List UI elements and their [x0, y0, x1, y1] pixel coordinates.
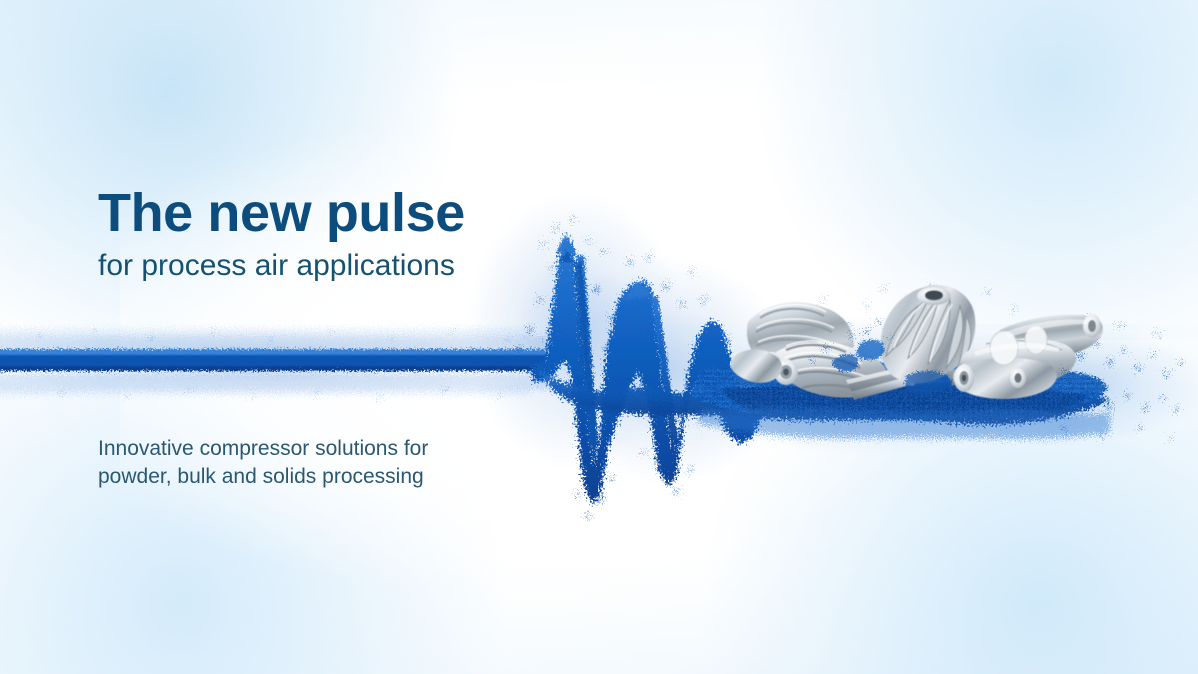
- page-subtitle: for process air applications: [98, 249, 568, 282]
- tagline-line-1: Innovative compressor solutions for: [98, 435, 518, 463]
- hero-banner: The new pulse for process air applicatio…: [0, 0, 1198, 674]
- tagline-line-2: powder, bulk and solids processing: [98, 463, 518, 491]
- powder-baseline: [0, 349, 546, 371]
- impeller-bore: [917, 287, 951, 305]
- hero-tagline: Innovative compressor solutions for powd…: [98, 435, 518, 491]
- powder-pulse-artwork: [0, 0, 1198, 674]
- page-title: The new pulse: [98, 186, 568, 241]
- lobe-bearing-screw: [1010, 368, 1026, 388]
- hero-copy: The new pulse for process air applicatio…: [98, 186, 568, 282]
